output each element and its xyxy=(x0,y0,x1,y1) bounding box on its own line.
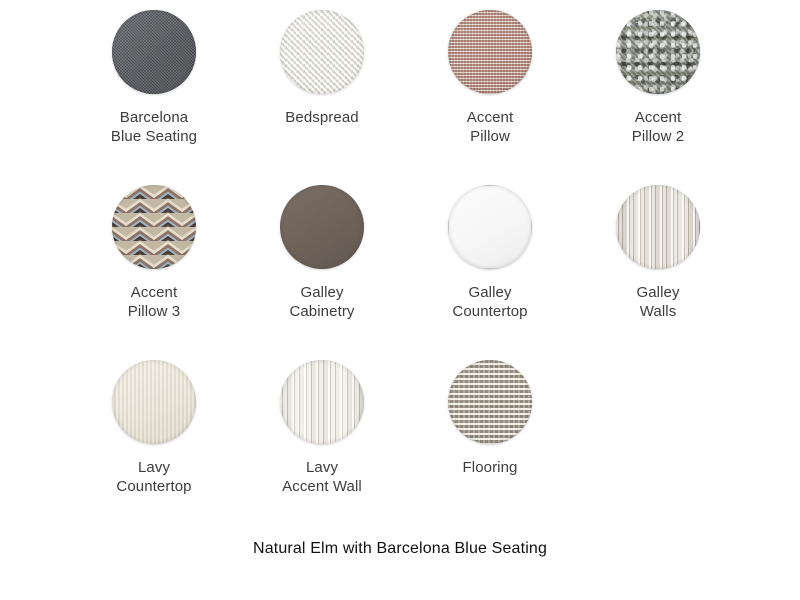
swatch-label: Lavy Countertop xyxy=(70,458,238,496)
texture-vertical-wood-grain-icon xyxy=(280,360,364,444)
material-palette-board: Barcelona Blue Seating Bedspread Accent … xyxy=(0,0,800,600)
texture-solid-icon xyxy=(448,185,532,269)
swatch-grid: Barcelona Blue Seating Bedspread Accent … xyxy=(70,2,742,527)
swatch-label: Galley Walls xyxy=(574,283,742,321)
swatch-disc-galley-countertop[interactable] xyxy=(448,185,532,269)
swatch-item-lavy-accent-wall[interactable]: Lavy Accent Wall xyxy=(238,352,406,527)
swatch-disc-wrap xyxy=(280,360,364,444)
texture-solid-icon xyxy=(112,360,196,444)
texture-mottled-tweed-icon xyxy=(616,10,700,94)
texture-chevron-zigzag-icon xyxy=(112,185,196,269)
swatch-label: Bedspread xyxy=(238,108,406,127)
swatch-disc-wrap xyxy=(112,185,196,269)
swatch-disc-wrap xyxy=(112,10,196,94)
swatch-label: Accent Pillow 3 xyxy=(70,283,238,321)
swatch-disc-wrap xyxy=(280,185,364,269)
swatch-label: Flooring xyxy=(406,458,574,477)
swatch-disc-barcelona-blue-seating[interactable] xyxy=(112,10,196,94)
texture-woven-mesh-icon xyxy=(112,10,196,94)
swatch-disc-accent-pillow[interactable] xyxy=(448,10,532,94)
texture-solid-icon xyxy=(280,185,364,269)
swatch-item-galley-walls[interactable]: Galley Walls xyxy=(574,177,742,352)
swatch-disc-wrap xyxy=(448,185,532,269)
swatch-disc-wrap xyxy=(448,10,532,94)
swatch-item-accent-pillow-3[interactable]: Accent Pillow 3 xyxy=(70,177,238,352)
swatch-label: Barcelona Blue Seating xyxy=(70,108,238,146)
swatch-disc-flooring[interactable] xyxy=(448,360,532,444)
swatch-disc-lavy-accent-wall[interactable] xyxy=(280,360,364,444)
texture-basketweave-icon xyxy=(448,360,532,444)
swatch-disc-accent-pillow-2[interactable] xyxy=(616,10,700,94)
swatch-disc-wrap xyxy=(448,360,532,444)
swatch-item-galley-countertop[interactable]: Galley Countertop xyxy=(406,177,574,352)
texture-vertical-wood-grain-icon xyxy=(616,185,700,269)
swatch-disc-accent-pillow-3[interactable] xyxy=(112,185,196,269)
swatch-item-barcelona-blue-seating[interactable]: Barcelona Blue Seating xyxy=(70,2,238,177)
swatch-label: Galley Countertop xyxy=(406,283,574,321)
swatch-item-bedspread[interactable]: Bedspread xyxy=(238,2,406,177)
swatch-label: Lavy Accent Wall xyxy=(238,458,406,496)
texture-grid-weave-icon xyxy=(448,10,532,94)
swatch-item-galley-cabinetry[interactable]: Galley Cabinetry xyxy=(238,177,406,352)
swatch-disc-galley-walls[interactable] xyxy=(616,185,700,269)
texture-herringbone-icon xyxy=(280,10,364,94)
swatch-item-lavy-countertop[interactable]: Lavy Countertop xyxy=(70,352,238,527)
swatch-disc-wrap xyxy=(616,185,700,269)
swatch-disc-wrap xyxy=(280,10,364,94)
swatch-disc-wrap xyxy=(112,360,196,444)
swatch-disc-wrap xyxy=(616,10,700,94)
swatch-disc-bedspread[interactable] xyxy=(280,10,364,94)
swatch-label: Galley Cabinetry xyxy=(238,283,406,321)
swatch-item-accent-pillow-2[interactable]: Accent Pillow 2 xyxy=(574,2,742,177)
swatch-item-flooring[interactable]: Flooring xyxy=(406,352,574,527)
swatch-label: Accent Pillow 2 xyxy=(574,108,742,146)
swatch-label: Accent Pillow xyxy=(406,108,574,146)
swatch-disc-galley-cabinetry[interactable] xyxy=(280,185,364,269)
swatch-item-accent-pillow[interactable]: Accent Pillow xyxy=(406,2,574,177)
swatch-disc-lavy-countertop[interactable] xyxy=(112,360,196,444)
board-caption: Natural Elm with Barcelona Blue Seating xyxy=(0,538,800,560)
